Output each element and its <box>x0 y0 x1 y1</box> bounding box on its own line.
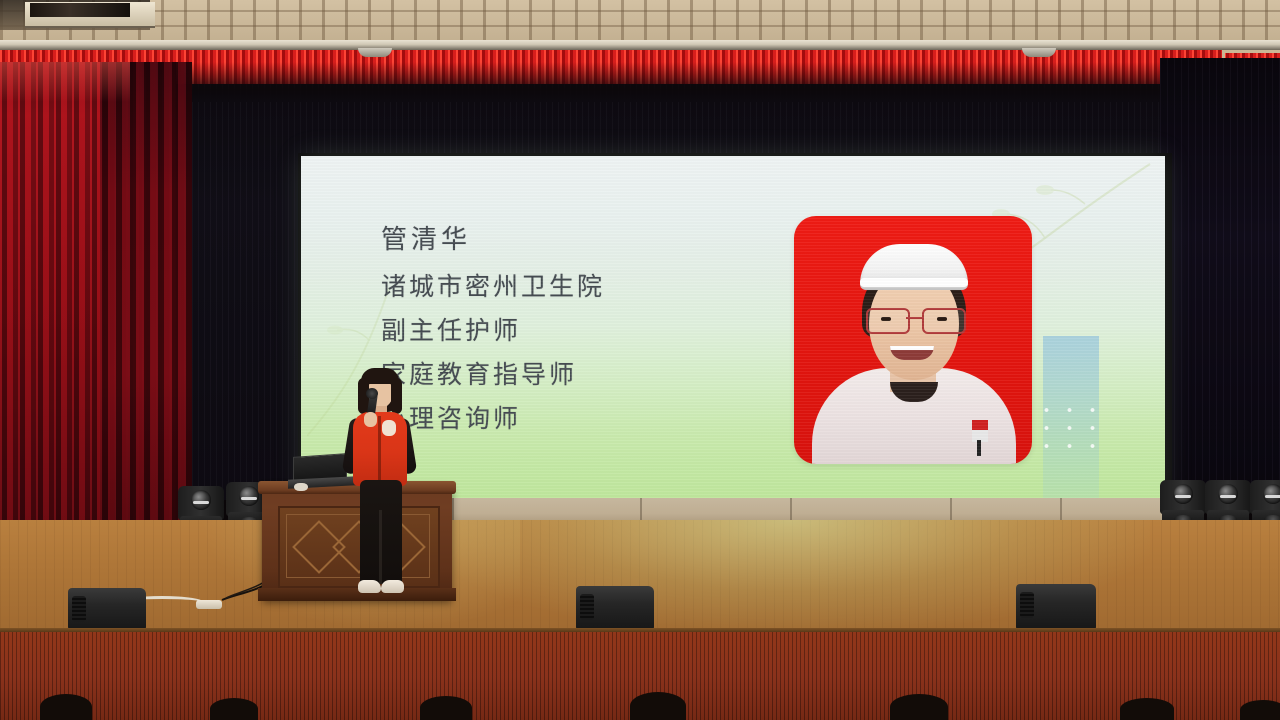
slide-line-credential-2: 心理咨询师 <box>381 398 801 442</box>
lighting-truss-rail <box>0 40 1280 50</box>
slide-line-name: 管清华 <box>381 218 801 262</box>
audience-head <box>40 694 92 720</box>
presenter-vest-zipper <box>378 416 381 484</box>
stage-curtain-right <box>1160 58 1280 503</box>
ceiling-fixture-vent <box>30 3 130 17</box>
ceiling-grid <box>0 0 1280 42</box>
glasses-lens-right <box>922 308 966 334</box>
audience-head <box>210 698 258 720</box>
nurse-portrait <box>794 216 1032 464</box>
portrait-eye-left <box>881 317 891 321</box>
audience-head <box>630 692 686 720</box>
moving-head-light <box>1160 468 1206 526</box>
glasses-icon <box>866 308 962 330</box>
audience-head <box>1120 698 1174 720</box>
stage-monitor-speaker <box>576 586 654 630</box>
audience-head <box>890 694 948 720</box>
mouse-icon[interactable] <box>294 483 308 491</box>
slide-line-credential-1: 家庭教育指导师 <box>381 354 801 398</box>
projection-screen[interactable]: 管清华 诸城市密州卫生院 副主任护师 家庭教育指导师 心理咨询师 <box>301 156 1165 498</box>
presenter-shoe-right <box>381 580 404 593</box>
glasses-lens-left <box>866 308 910 334</box>
presenter-leg-seam <box>379 510 382 584</box>
auditorium-stage-scene: 管清华 诸城市密州卫生院 副主任护师 家庭教育指导师 心理咨询师 <box>0 0 1280 720</box>
audience-head <box>420 696 472 720</box>
microphone-head-icon <box>366 388 378 399</box>
slide-line-organization: 诸城市密州卫生院 <box>381 266 801 310</box>
portrait-name-badge <box>972 420 988 442</box>
nurse-cap-band <box>860 278 968 287</box>
presenter-hand-right <box>382 420 396 436</box>
moving-head-light <box>1250 468 1280 526</box>
presenter-hand-left <box>364 412 377 427</box>
presenter-shoe-left <box>358 580 381 593</box>
valance-shadow <box>0 62 1280 102</box>
truss-lamp-icon <box>358 48 392 57</box>
moving-head-light <box>1205 468 1251 526</box>
stage-monitor-speaker <box>68 588 146 630</box>
presenter <box>340 368 420 608</box>
audience-head <box>1240 700 1280 720</box>
portrait-eye-right <box>937 317 947 321</box>
slide-text-block: 管清华 诸城市密州卫生院 副主任护师 家庭教育指导师 心理咨询师 <box>381 218 801 442</box>
slide-line-title: 副主任护师 <box>381 310 801 354</box>
glasses-bridge <box>906 317 922 319</box>
stage-monitor-speaker <box>1016 584 1096 630</box>
truss-lamp-icon <box>1022 48 1056 57</box>
portrait-badge-pin <box>977 440 981 456</box>
curtain-highlight <box>0 62 130 102</box>
presenter-hair-right <box>391 378 402 414</box>
